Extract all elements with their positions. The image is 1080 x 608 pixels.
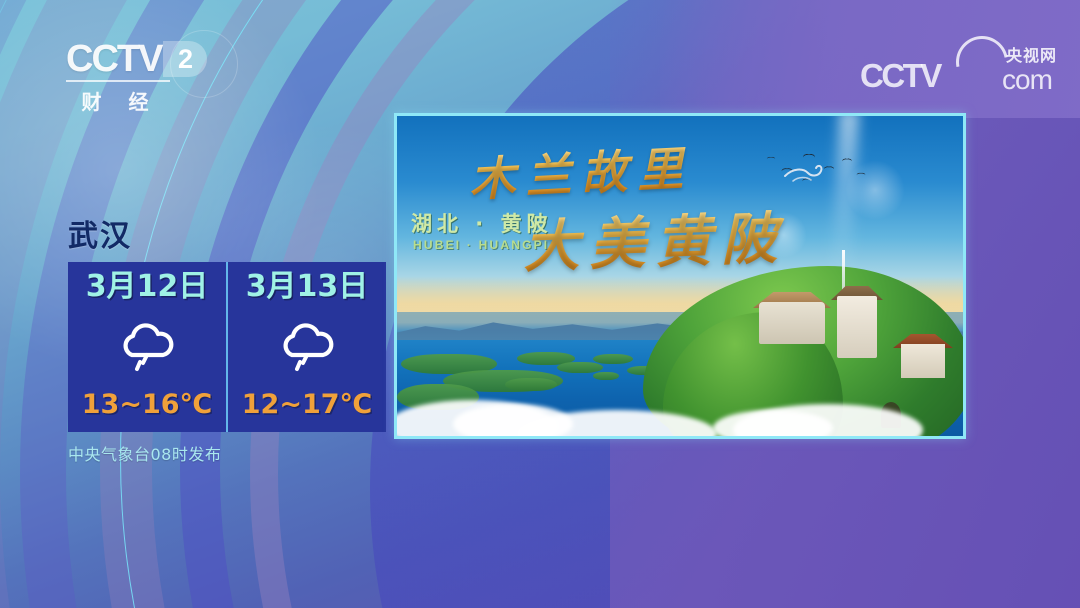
- forecast-date: 3月12日: [86, 272, 209, 302]
- forecast-card-day2[interactable]: 3月13日 12~17℃: [226, 262, 386, 432]
- scene-tower: [837, 296, 877, 358]
- promo-banner-scene: 木兰故里 大美黄陂 湖北 · 黄陂 HUBEI · HUANGPI: [397, 116, 963, 436]
- scene-island: [593, 372, 619, 380]
- cctv-com-watermark: CCTV 央视网 com: [860, 38, 1046, 94]
- promo-title-line2: 大美黄陂: [522, 193, 789, 283]
- scene-island: [557, 362, 603, 373]
- promo-banner[interactable]: 木兰故里 大美黄陂 湖北 · 黄陂 HUBEI · HUANGPI: [394, 113, 966, 439]
- weather-source-note: 中央气象台08时发布: [68, 441, 386, 465]
- cctv2-logo: CCTV 2 财 经: [66, 40, 216, 115]
- bird-icon: [803, 154, 815, 160]
- channel-number: 2: [178, 46, 193, 73]
- cloud-ornament-icon: [783, 162, 829, 184]
- forecast-date: 3月13日: [246, 272, 369, 302]
- rain-cloud-icon: [116, 321, 178, 373]
- weather-panel: 武汉 3月12日 13~16℃ 3月13日: [68, 222, 386, 465]
- bird-icon: [857, 173, 866, 177]
- channel-number-badge: 2: [163, 41, 207, 77]
- scene-building: [759, 302, 825, 344]
- lens-flare-icon: [845, 160, 905, 220]
- forecast-card-day1[interactable]: 3月12日 13~16℃: [68, 262, 226, 432]
- channel-subtitle: 财 经: [66, 86, 174, 115]
- city-name: 武汉: [68, 222, 386, 252]
- watermark-cn-text: 央视网: [1006, 42, 1057, 66]
- watermark-cctv-text: CCTV: [860, 59, 940, 92]
- bird-icon: [767, 157, 775, 161]
- scene-island: [593, 354, 633, 364]
- promo-subtitle-en: HUBEI · HUANGPI: [413, 238, 549, 252]
- scene-island: [505, 378, 557, 391]
- forecast-card-list: 3月12日 13~16℃ 3月13日: [68, 262, 386, 432]
- logo-underline: [66, 80, 170, 82]
- watermark-com-text: com: [1002, 66, 1052, 94]
- cctv-wordmark: CCTV: [66, 40, 161, 78]
- promo-subtitle-cn: 湖北 · 黄陂: [411, 208, 553, 238]
- forecast-temperature: 12~17℃: [242, 391, 372, 418]
- broadcast-screen: CCTV 2 财 经 CCTV 央视网 com 武汉 3月12日: [0, 0, 1080, 608]
- bird-icon: [842, 159, 852, 164]
- scene-pavilion: [901, 344, 945, 378]
- rain-cloud-icon: [276, 321, 338, 373]
- forecast-temperature: 13~16℃: [82, 391, 212, 418]
